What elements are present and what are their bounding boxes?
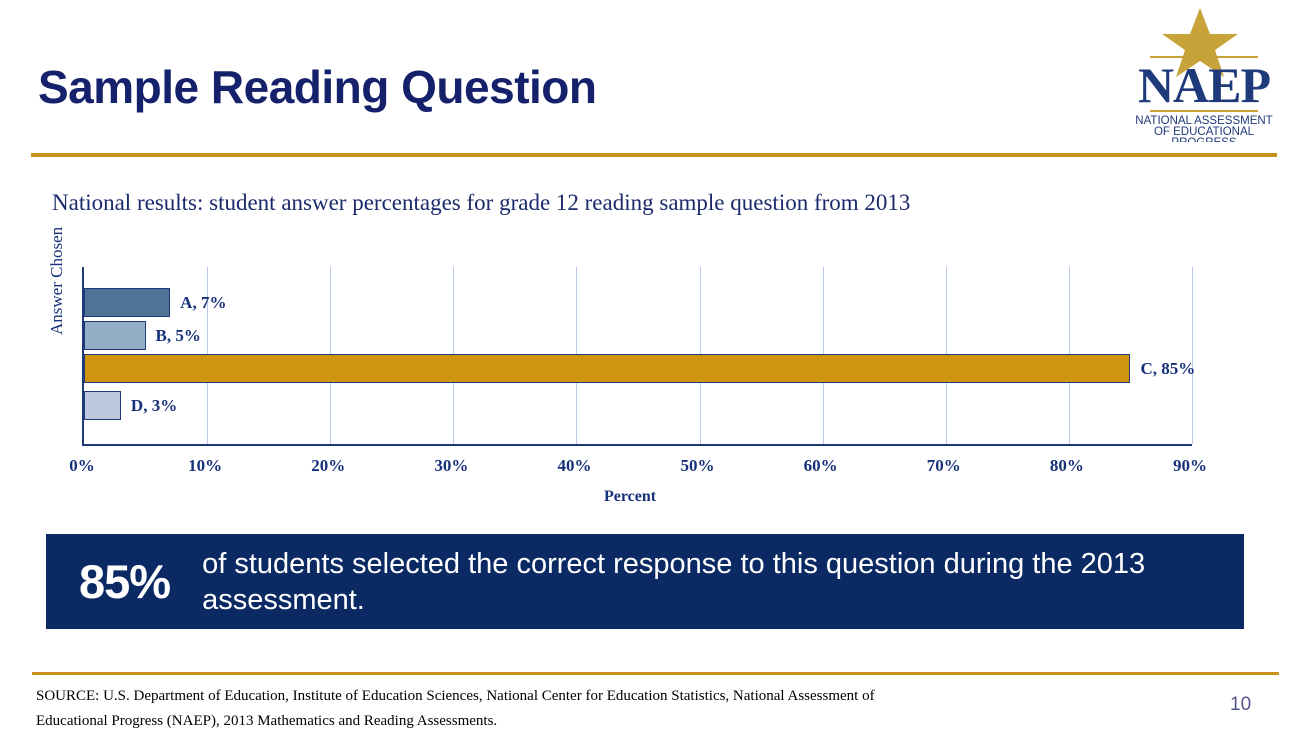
bar-row: C, 85% xyxy=(84,354,1194,383)
plot-area: A, 7%B, 5%C, 85%D, 3% xyxy=(82,267,1192,446)
bar-value-label: D, 3% xyxy=(131,396,177,416)
x-tick-label: 80% xyxy=(1050,456,1084,476)
callout-banner: 85% of students selected the correct res… xyxy=(46,534,1244,629)
callout-stat: 85% xyxy=(79,558,170,605)
bar-row: A, 7% xyxy=(84,288,1194,317)
bar-row: B, 5% xyxy=(84,321,1194,350)
bar-value-label: B, 5% xyxy=(156,326,201,346)
page-number: 10 xyxy=(1230,694,1251,716)
source-note: SOURCE: U.S. Department of Education, In… xyxy=(36,684,936,734)
x-tick-label: 40% xyxy=(557,456,591,476)
y-axis-title: Answer Chosen xyxy=(47,227,67,335)
x-tick-label: 20% xyxy=(311,456,345,476)
title-divider xyxy=(31,153,1277,157)
x-axis-title: Percent xyxy=(0,488,1260,506)
x-tick-label: 10% xyxy=(188,456,222,476)
footer-divider xyxy=(32,672,1279,675)
bar-c xyxy=(84,354,1130,383)
x-tick-label: 90% xyxy=(1173,456,1207,476)
chart-subtitle: National results: student answer percent… xyxy=(52,188,1012,218)
naep-logo: NAEP NATIONAL ASSESSMENT OF EDUCATIONAL … xyxy=(1128,4,1280,142)
x-tick-label: 30% xyxy=(434,456,468,476)
bar-row: D, 3% xyxy=(84,391,1194,420)
x-tick-label: 50% xyxy=(681,456,715,476)
x-tick-label: 60% xyxy=(804,456,838,476)
x-tick-label: 0% xyxy=(69,456,95,476)
bar-a xyxy=(84,288,170,317)
bar-d xyxy=(84,391,121,420)
callout-text: of students selected the correct respons… xyxy=(202,546,1244,618)
page-title: Sample Reading Question xyxy=(38,60,597,114)
x-tick-label: 70% xyxy=(927,456,961,476)
slide: Sample Reading Question NAEP NATIONAL AS… xyxy=(0,0,1308,740)
bar-value-label: A, 7% xyxy=(180,293,226,313)
svg-text:PROGRESS: PROGRESS xyxy=(1171,137,1237,142)
bar-b xyxy=(84,321,146,350)
bar-chart: Answer Chosen A, 7%B, 5%C, 85%D, 3% 0%10… xyxy=(0,260,1308,515)
svg-text:NAEP: NAEP xyxy=(1138,57,1271,113)
bar-value-label: C, 85% xyxy=(1140,359,1195,379)
